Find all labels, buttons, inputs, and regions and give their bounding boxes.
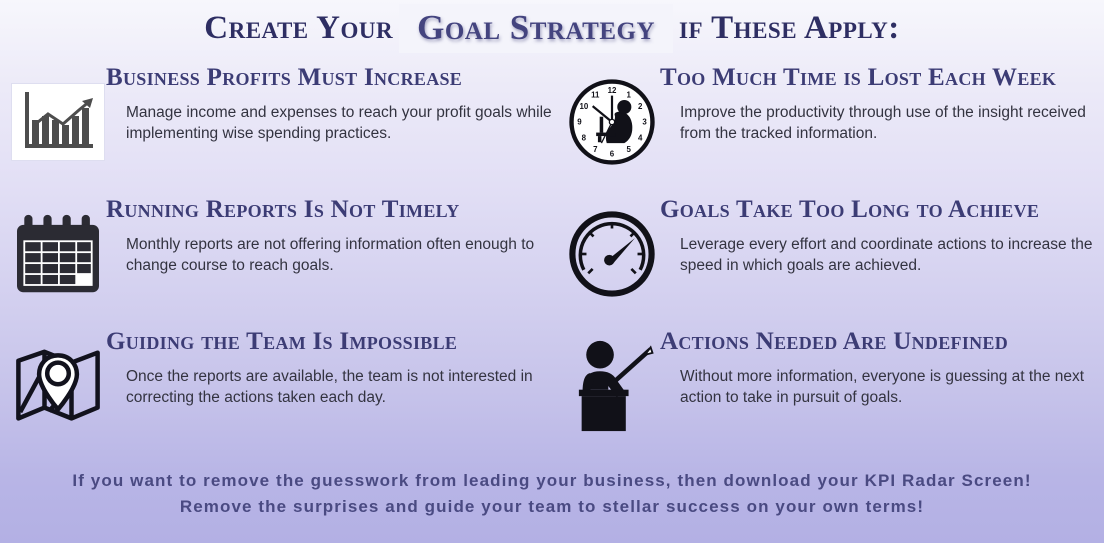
svg-text:3: 3 [642, 118, 647, 127]
presenter-podium-icon [564, 338, 660, 434]
svg-text:7: 7 [593, 145, 598, 154]
feature-block-goals-too-long: Goals Take Too Long to Achieve Leverage … [552, 192, 1104, 324]
svg-text:12: 12 [608, 86, 617, 95]
title-tail: if These Apply: [679, 10, 900, 47]
feature-grid: Business Profits Must Increase Manage in… [0, 60, 1104, 456]
svg-text:8: 8 [582, 133, 587, 142]
feature-heading: Actions Needed Are Undefined [660, 328, 1104, 357]
feature-block-time-lost: 12 1 2 3 4 5 6 7 8 9 10 11 [552, 60, 1104, 192]
infographic-poster: Create Your Goal Strategy if These Apply… [0, 0, 1104, 543]
feature-body: Manage income and expenses to reach your… [106, 103, 552, 145]
feature-body: Without more information, everyone is gu… [660, 367, 1104, 409]
feature-block-guiding-team: Guiding the Team Is Impossible Once the … [0, 324, 552, 456]
footer-line-2: Remove the surprises and guide your team… [0, 494, 1104, 520]
svg-text:1: 1 [627, 90, 632, 99]
svg-text:10: 10 [579, 102, 588, 111]
feature-block-business-profits: Business Profits Must Increase Manage in… [0, 60, 552, 192]
feature-row: Running Reports Is Not Timely Monthly re… [0, 192, 1104, 324]
page-title: Create Your Goal Strategy if These Apply… [0, 0, 1104, 56]
speedometer-gauge-icon [564, 206, 660, 302]
feature-row: Business Profits Must Increase Manage in… [0, 60, 1104, 192]
svg-text:9: 9 [577, 118, 582, 127]
svg-text:2: 2 [638, 102, 643, 111]
feature-body: Improve the productivity through use of … [660, 103, 1104, 145]
svg-text:6: 6 [610, 149, 615, 158]
clock-worker-icon: 12 1 2 3 4 5 6 7 8 9 10 11 [564, 74, 660, 170]
title-lead: Create Your [204, 10, 393, 47]
feature-row: Guiding the Team Is Impossible Once the … [0, 324, 1104, 456]
bar-chart-growth-icon [10, 74, 106, 170]
svg-text:11: 11 [591, 90, 600, 99]
feature-body: Leverage every effort and coordinate act… [660, 235, 1104, 277]
footer-line-1: If you want to remove the guesswork from… [0, 468, 1104, 494]
feature-heading: Guiding the Team Is Impossible [106, 328, 552, 357]
calendar-icon [10, 206, 106, 302]
feature-heading: Business Profits Must Increase [106, 64, 552, 93]
title-highlight: Goal Strategy [399, 4, 673, 53]
feature-body: Once the reports are available, the team… [106, 367, 552, 409]
feature-heading: Goals Take Too Long to Achieve [660, 196, 1104, 225]
footer-cta: If you want to remove the guesswork from… [0, 468, 1104, 521]
feature-block-actions-undefined: Actions Needed Are Undefined Without mor… [552, 324, 1104, 456]
svg-text:5: 5 [627, 145, 632, 154]
svg-text:4: 4 [638, 133, 643, 142]
feature-body: Monthly reports are not offering informa… [106, 235, 552, 277]
folded-map-pin-icon [10, 338, 106, 434]
feature-heading: Running Reports Is Not Timely [106, 196, 552, 225]
feature-block-running-reports: Running Reports Is Not Timely Monthly re… [0, 192, 552, 324]
feature-heading: Too Much Time is Lost Each Week [660, 64, 1104, 93]
